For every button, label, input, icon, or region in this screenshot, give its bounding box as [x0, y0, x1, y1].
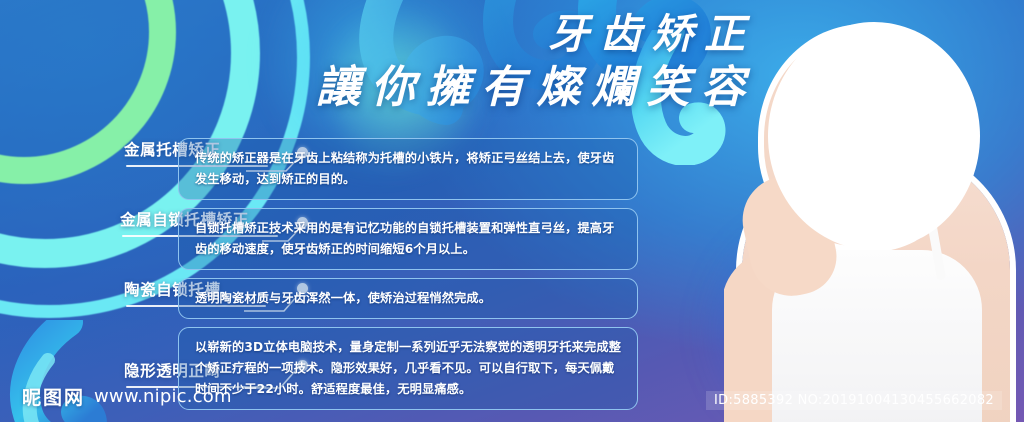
face-mask-overlay: [768, 22, 980, 250]
id-stamp: ID:5885392 NO:20191004130455662082: [706, 391, 1002, 410]
feature-description: 传统的矫正器是在牙齿上粘结称为托槽的小铁片，将矫正弓丝结上去，使牙齿发生移动，达…: [178, 138, 638, 200]
watermark-url: www.nipic.com: [94, 386, 232, 407]
page-title: 牙齿矫正: [316, 14, 756, 55]
feature-description: 自锁托槽矫正技术采用的是有记忆功能的自锁托槽装置和弹性直弓丝，提高牙齿的移动速度…: [178, 208, 638, 270]
feature-label: 金属托槽矫正: [124, 138, 176, 160]
dental-promo-banner: 牙齿矫正 讓你擁有燦爛笑容 金属托槽矫正 传统的矫正器是在牙齿上粘结称为托槽的小…: [0, 0, 1024, 422]
feature-label-wrap: 陶瓷自锁托槽: [0, 278, 176, 300]
list-item: 金属自锁托槽矫正 自锁托槽矫正技术采用的是有记忆功能的自锁托槽装置和弹性直弓丝，…: [0, 208, 770, 270]
list-item: 金属托槽矫正 传统的矫正器是在牙齿上粘结称为托槽的小铁片，将矫正弓丝结上去，使牙…: [0, 138, 770, 200]
feature-description: 透明陶瓷材质与牙齿浑然一体，使矫治过程悄然完成。: [178, 278, 638, 319]
feature-label-wrap: 金属自锁托槽矫正: [0, 208, 176, 230]
feature-label: 隐形透明正畸: [124, 359, 176, 381]
feature-label-wrap: 隐形透明正畸: [0, 327, 176, 381]
feature-list: 金属托槽矫正 传统的矫正器是在牙齿上粘结称为托槽的小铁片，将矫正弓丝结上去，使牙…: [0, 138, 770, 418]
feature-label: 陶瓷自锁托槽: [124, 278, 176, 300]
headline-block: 牙齿矫正 讓你擁有燦爛笑容: [316, 14, 756, 110]
feature-label-wrap: 金属托槽矫正: [0, 138, 176, 160]
list-item: 陶瓷自锁托槽 透明陶瓷材质与牙齿浑然一体，使矫治过程悄然完成。: [0, 278, 770, 319]
feature-label: 金属自锁托槽矫正: [120, 208, 176, 230]
model-photo: [724, 0, 1024, 422]
watermark-brand: 昵图网: [22, 383, 85, 410]
watermark: 昵图网 www.nipic.com: [22, 383, 232, 410]
feature-description: 以崭新的3D立体电脑技术，量身定制一系列近乎无法察觉的透明牙托来完成整个矫正疗程…: [178, 327, 638, 410]
page-subtitle: 讓你擁有燦爛笑容: [316, 66, 756, 110]
